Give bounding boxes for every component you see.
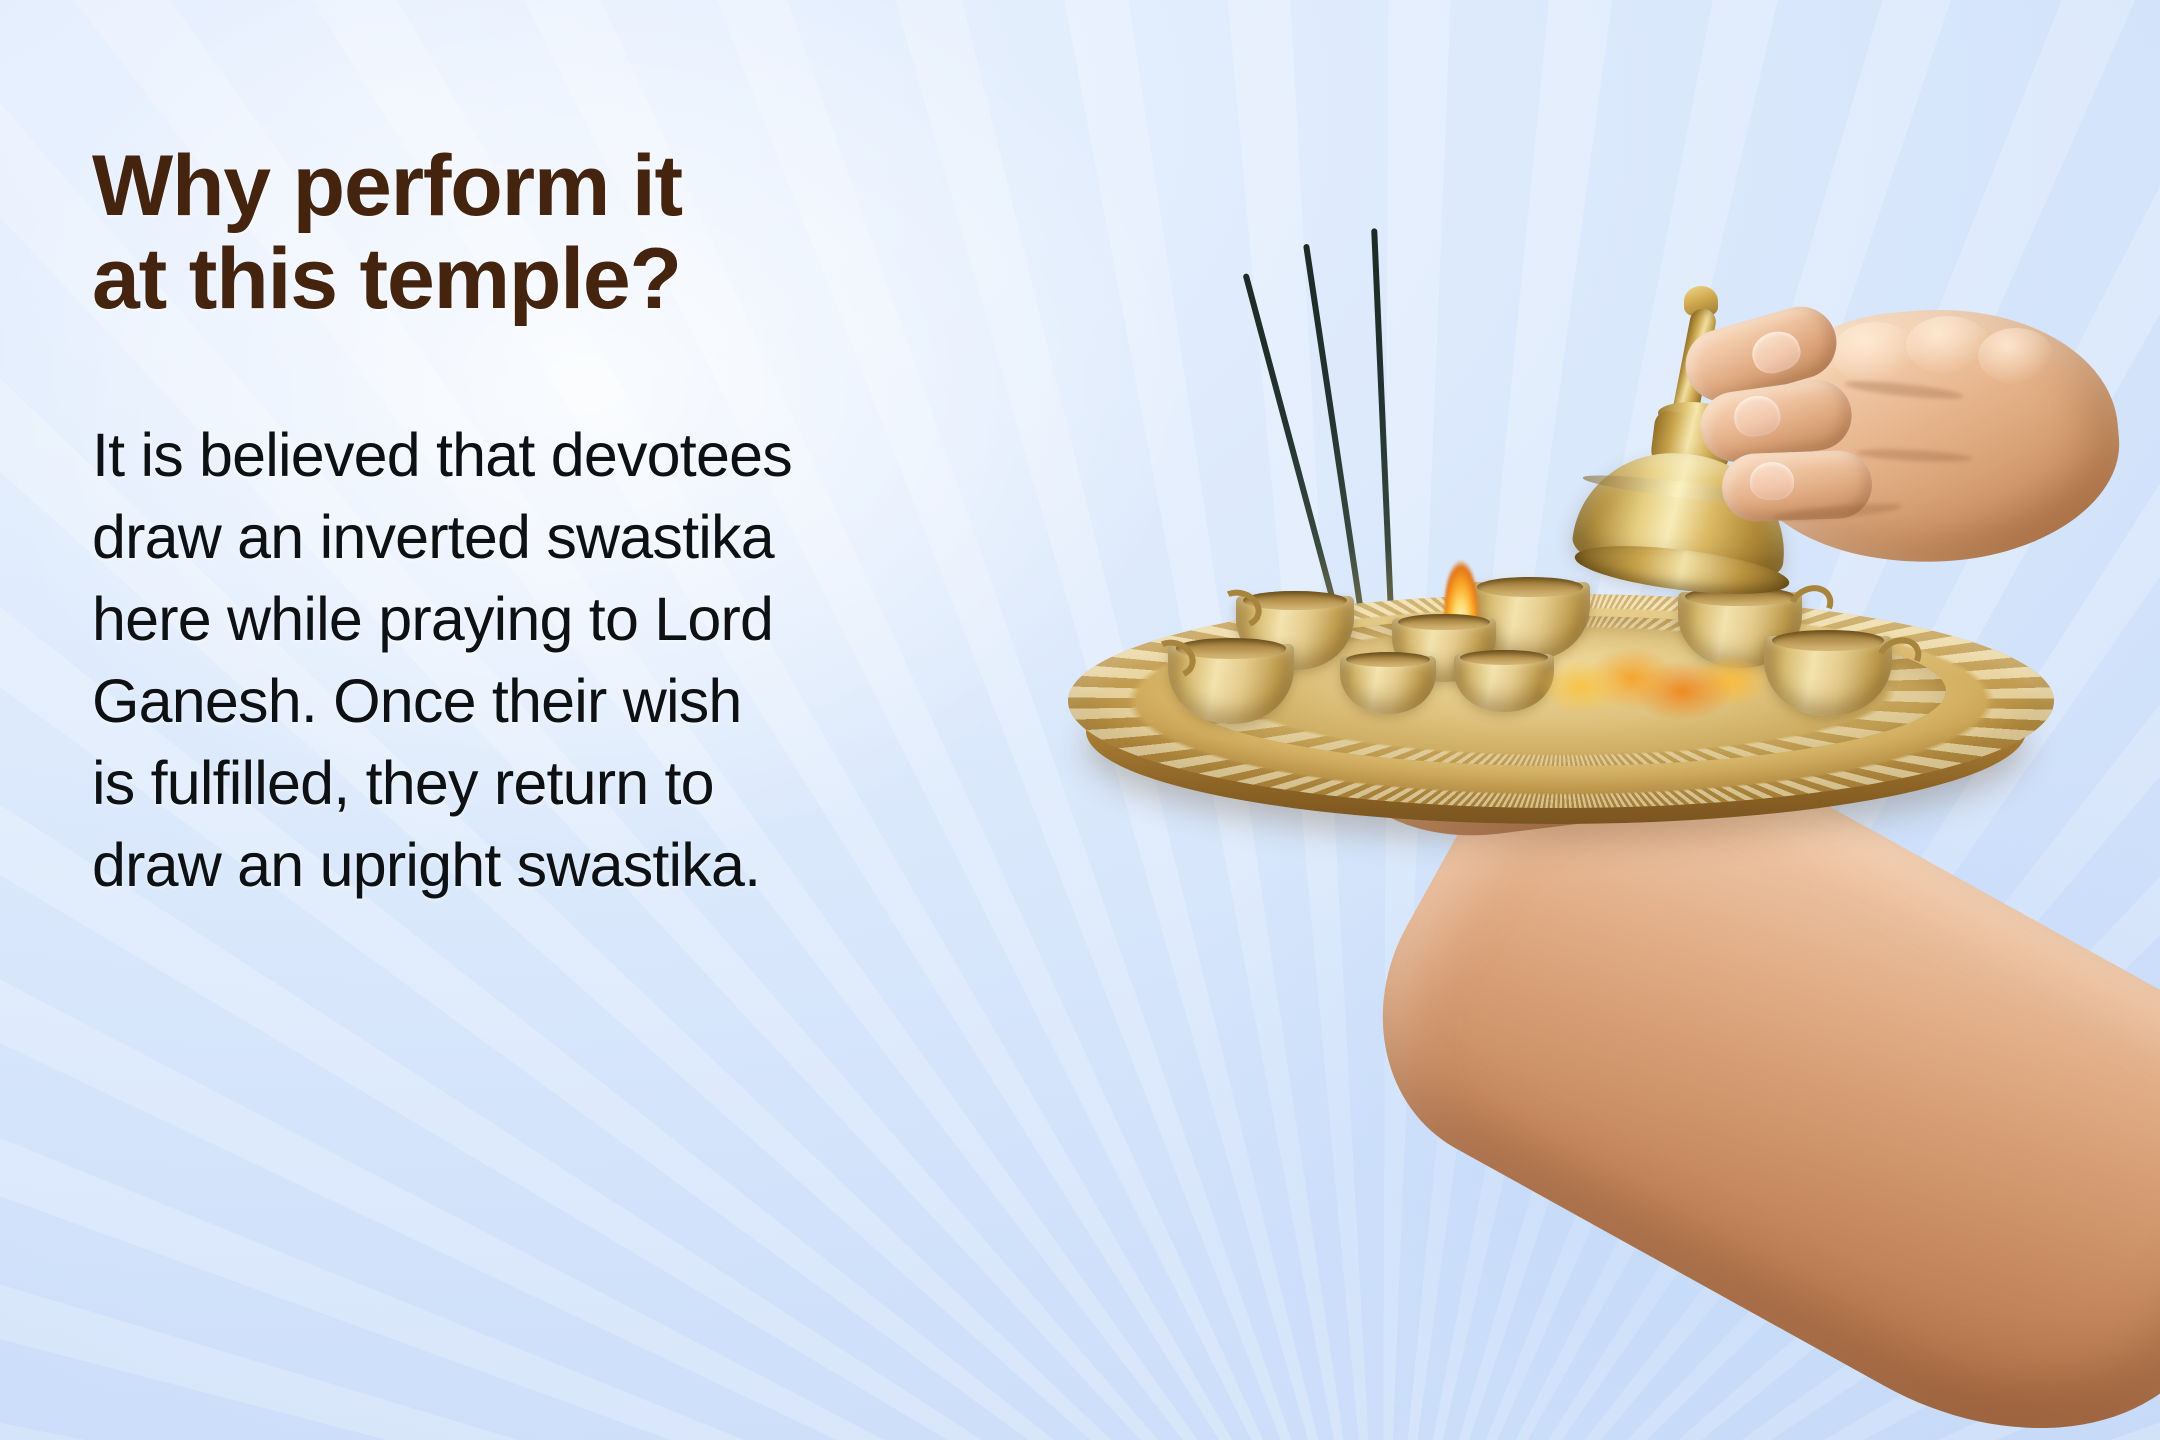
aarti-photo — [1040, 0, 2160, 1440]
incense-stick — [1243, 273, 1338, 609]
knuckle — [1906, 316, 1990, 374]
slide-root: Why perform it at this temple? It is bel… — [0, 0, 2160, 1440]
body-paragraph: It is believed that devotees draw an inv… — [92, 326, 792, 906]
incense-stick — [1303, 244, 1364, 613]
bell-hand — [1648, 292, 2118, 592]
knuckle — [1978, 328, 2054, 384]
ring-fingernail — [1750, 462, 1794, 500]
incense-stick — [1371, 228, 1394, 614]
marigold-petals — [1540, 648, 1770, 720]
page-title: Why perform it at this temple? — [92, 140, 1022, 326]
knuckle — [1832, 322, 1918, 384]
text-column: Why perform it at this temple? It is bel… — [92, 140, 1022, 906]
